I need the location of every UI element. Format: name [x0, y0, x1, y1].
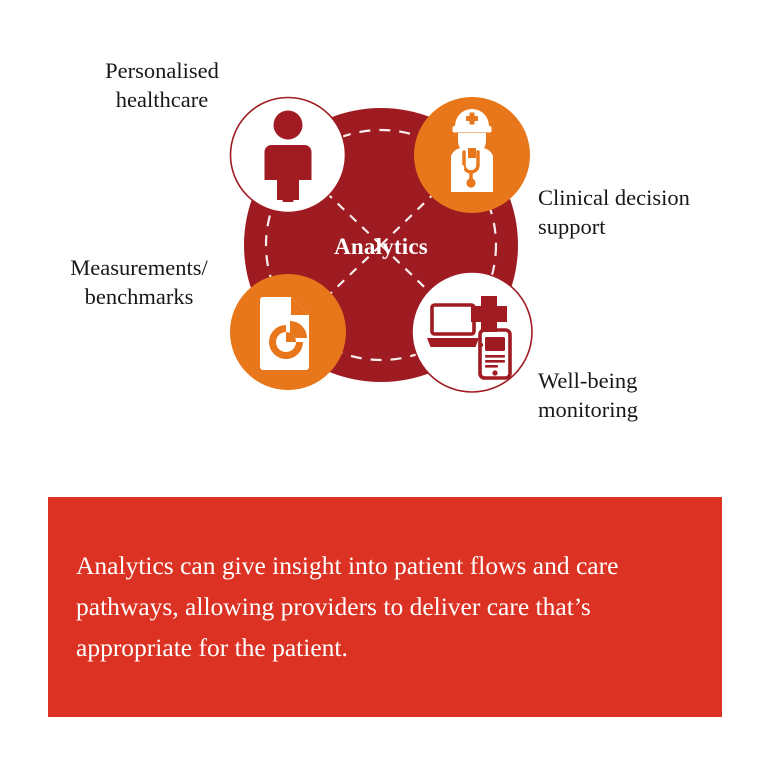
- document-pie-chart-icon: [260, 297, 309, 370]
- hub-and-spoke-diagram: Analytics Personalised healthcare Clinic…: [0, 0, 768, 470]
- analytics-infographic: Analytics Personalised healthcare Clinic…: [0, 0, 768, 768]
- label-personalised-healthcare: Personalised healthcare: [62, 56, 262, 114]
- caption-banner: Analytics can give insight into patient …: [48, 497, 722, 717]
- doctor-icon: [451, 109, 493, 192]
- hub-title: Analytics: [281, 234, 481, 260]
- caption-text: Analytics can give insight into patient …: [76, 545, 691, 668]
- node-well-being-monitoring[interactable]: [412, 272, 532, 392]
- node-measurements-benchmarks[interactable]: [230, 274, 346, 390]
- node-personalised-healthcare[interactable]: [231, 98, 346, 213]
- label-measurements-benchmarks: Measurements/ benchmarks: [34, 253, 244, 311]
- label-well-being-monitoring: Well-being monitoring: [538, 366, 738, 424]
- node-clinical-decision-support[interactable]: [414, 97, 530, 213]
- node-circle-wellbeing[interactable]: [412, 272, 532, 392]
- label-clinical-decision-support: Clinical decision support: [538, 183, 748, 241]
